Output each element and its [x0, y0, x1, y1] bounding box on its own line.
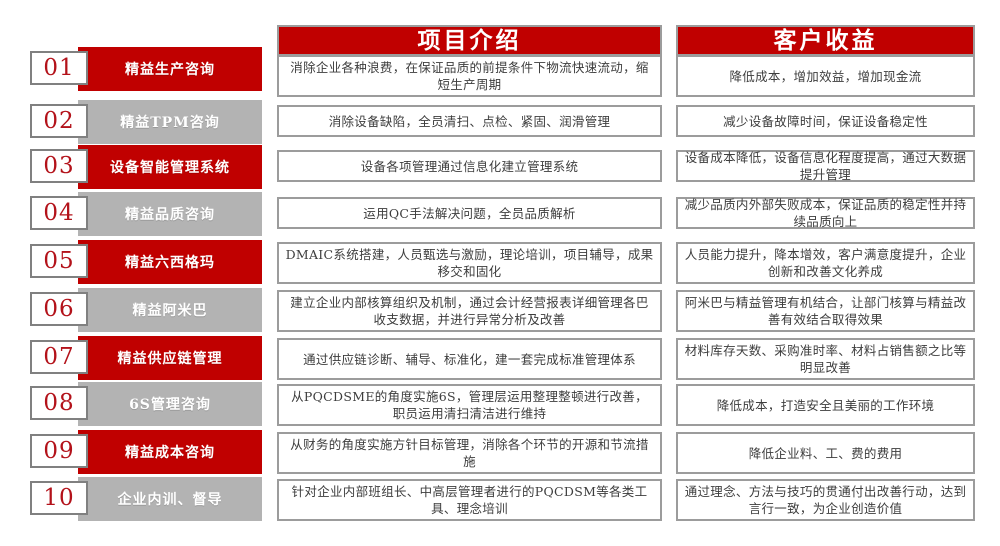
service-title-bar[interactable]: 精益供应链管理 [78, 336, 262, 380]
customer-benefit-cell: 降低成本，增加效益，增加现金流 [676, 55, 975, 97]
service-number-label: 04 [43, 202, 74, 225]
service-number-label: 08 [43, 392, 74, 415]
service-number-box: 10 [30, 481, 88, 515]
customer-benefit-text: 人员能力提升，降本增效，客户满意度提升，企业创新和改善文化养成 [684, 246, 967, 280]
service-title-label: 精益成本咨询 [125, 442, 215, 462]
customer-benefit-cell: 降低成本，打造安全且美丽的工作环境 [676, 384, 975, 426]
service-number-box: 05 [30, 244, 88, 278]
project-introduction-cell: 从财务的角度实施方针目标管理，消除各个环节的开源和节流措施 [277, 432, 662, 474]
service-row-07[interactable]: 精益供应链管理07 [30, 336, 262, 380]
customer-benefit-cell: 减少品质内外部失败成本，保证品质的稳定性并持续品质向上 [676, 197, 975, 229]
service-title-label: 精益六西格玛 [125, 252, 215, 272]
project-introduction-text: 通过供应链诊断、辅导、标准化，建一套完成标准管理体系 [285, 351, 654, 368]
customer-benefit-text: 降低成本，增加效益，增加现金流 [684, 68, 967, 85]
service-row-06[interactable]: 精益阿米巴06 [30, 288, 262, 332]
project-introduction-text: 从PQCDSME的角度实施6S，管理层运用整理整顿进行改善，职员运用清扫清洁进行… [285, 388, 654, 422]
service-number-box: 06 [30, 292, 88, 326]
service-row-02[interactable]: 精益TPM咨询02 [30, 100, 262, 144]
service-number-box: 02 [30, 104, 88, 138]
service-number-label: 01 [43, 57, 74, 80]
service-number-label: 10 [43, 487, 74, 510]
service-title-bar[interactable]: 精益六西格玛 [78, 240, 262, 284]
service-title-bar[interactable]: 精益生产咨询 [78, 47, 262, 91]
service-number-box: 09 [30, 434, 88, 468]
service-row-04[interactable]: 精益品质咨询04 [30, 192, 262, 236]
service-number-box: 03 [30, 149, 88, 183]
customer-benefit-text: 材料库存天数、采购准时率、材料占销售额之比等明显改善 [684, 342, 967, 376]
project-introduction-cell: 运用QC手法解决问题，全员品质解析 [277, 197, 662, 229]
service-title-bar[interactable]: 精益阿米巴 [78, 288, 262, 332]
service-row-05[interactable]: 精益六西格玛05 [30, 240, 262, 284]
column-header-project-introduction: 项目介绍 [277, 25, 662, 56]
service-number-box: 07 [30, 340, 88, 374]
project-introduction-text: 运用QC手法解决问题，全员品质解析 [285, 205, 654, 222]
customer-benefit-cell: 降低企业料、工、费的费用 [676, 432, 975, 474]
column-header-customer-benefit-label: 客户收益 [774, 29, 878, 52]
project-introduction-cell: 建立企业内部核算组织及机制，通过会计经营报表详细管理各巴收支数据，并进行异常分析… [277, 290, 662, 332]
column-header-project-introduction-label: 项目介绍 [418, 29, 522, 52]
service-title-label: 精益阿米巴 [133, 300, 208, 320]
service-matrix-board: 项目介绍 客户收益 精益生产咨询01消除企业各种浪费，在保证品质的前提条件下物流… [0, 0, 1000, 546]
customer-benefit-text: 降低企业料、工、费的费用 [684, 445, 967, 462]
service-title-bar[interactable]: 精益品质咨询 [78, 192, 262, 236]
service-number-box: 01 [30, 51, 88, 85]
service-row-01[interactable]: 精益生产咨询01 [30, 47, 262, 91]
service-title-label: 精益生产咨询 [125, 59, 215, 79]
project-introduction-cell: 设备各项管理通过信息化建立管理系统 [277, 150, 662, 182]
project-introduction-cell: 消除设备缺陷，全员清扫、点检、紧固、润滑管理 [277, 105, 662, 137]
project-introduction-text: 消除企业各种浪费，在保证品质的前提条件下物流快速流动，缩短生产周期 [285, 59, 654, 93]
project-introduction-text: 设备各项管理通过信息化建立管理系统 [285, 158, 654, 175]
project-introduction-text: 从财务的角度实施方针目标管理，消除各个环节的开源和节流措施 [285, 436, 654, 470]
service-number-label: 06 [43, 298, 74, 321]
service-title-bar[interactable]: 精益成本咨询 [78, 430, 262, 474]
customer-benefit-cell: 减少设备故障时间，保证设备稳定性 [676, 105, 975, 137]
project-introduction-text: 建立企业内部核算组织及机制，通过会计经营报表详细管理各巴收支数据，并进行异常分析… [285, 294, 654, 328]
service-number-box: 04 [30, 196, 88, 230]
customer-benefit-text: 阿米巴与精益管理有机结合，让部门核算与精益改善有效结合取得效果 [684, 294, 967, 328]
project-introduction-cell: DMAIC系统搭建，人员甄选与激励，理论培训，项目辅导，成果移交和固化 [277, 242, 662, 284]
project-introduction-text: 消除设备缺陷，全员清扫、点检、紧固、润滑管理 [285, 113, 654, 130]
service-title-label: 企业内训、督导 [118, 489, 223, 509]
column-header-customer-benefit: 客户收益 [676, 25, 975, 56]
service-number-label: 03 [43, 155, 74, 178]
customer-benefit-text: 减少设备故障时间，保证设备稳定性 [684, 113, 967, 130]
service-title-label: 精益供应链管理 [118, 348, 223, 368]
service-row-10[interactable]: 企业内训、督导10 [30, 477, 262, 521]
customer-benefit-text: 设备成本降低，设备信息化程度提高，通过大数据提升管理 [684, 149, 967, 183]
service-number-box: 08 [30, 386, 88, 420]
service-title-label: 6S管理咨询 [129, 394, 211, 414]
customer-benefit-text: 通过理念、方法与技巧的贯通付出改善行动，达到言行一致，为企业创造价值 [684, 483, 967, 517]
service-number-label: 07 [43, 346, 74, 369]
service-number-label: 02 [43, 110, 74, 133]
service-title-label: 设备智能管理系统 [110, 157, 230, 177]
service-row-03[interactable]: 设备智能管理系统03 [30, 145, 262, 189]
customer-benefit-text: 减少品质内外部失败成本，保证品质的稳定性并持续品质向上 [684, 196, 967, 230]
customer-benefit-cell: 阿米巴与精益管理有机结合，让部门核算与精益改善有效结合取得效果 [676, 290, 975, 332]
service-row-08[interactable]: 6S管理咨询08 [30, 382, 262, 426]
customer-benefit-cell: 人员能力提升，降本增效，客户满意度提升，企业创新和改善文化养成 [676, 242, 975, 284]
service-title-bar[interactable]: 精益TPM咨询 [78, 100, 262, 144]
project-introduction-cell: 消除企业各种浪费，在保证品质的前提条件下物流快速流动，缩短生产周期 [277, 55, 662, 97]
project-introduction-cell: 通过供应链诊断、辅导、标准化，建一套完成标准管理体系 [277, 338, 662, 380]
project-introduction-cell: 针对企业内部班组长、中高层管理者进行的PQCDSM等各类工具、理念培训 [277, 479, 662, 521]
project-introduction-cell: 从PQCDSME的角度实施6S，管理层运用整理整顿进行改善，职员运用清扫清洁进行… [277, 384, 662, 426]
service-number-label: 05 [43, 250, 74, 273]
customer-benefit-cell: 通过理念、方法与技巧的贯通付出改善行动，达到言行一致，为企业创造价值 [676, 479, 975, 521]
service-title-label: 精益TPM咨询 [120, 112, 219, 132]
service-number-label: 09 [43, 440, 74, 463]
customer-benefit-text: 降低成本，打造安全且美丽的工作环境 [684, 397, 967, 414]
service-title-bar[interactable]: 设备智能管理系统 [78, 145, 262, 189]
service-title-bar[interactable]: 企业内训、督导 [78, 477, 262, 521]
project-introduction-text: 针对企业内部班组长、中高层管理者进行的PQCDSM等各类工具、理念培训 [285, 483, 654, 517]
service-title-bar[interactable]: 6S管理咨询 [78, 382, 262, 426]
customer-benefit-cell: 设备成本降低，设备信息化程度提高，通过大数据提升管理 [676, 150, 975, 182]
service-title-label: 精益品质咨询 [125, 204, 215, 224]
service-row-09[interactable]: 精益成本咨询09 [30, 430, 262, 474]
project-introduction-text: DMAIC系统搭建，人员甄选与激励，理论培训，项目辅导，成果移交和固化 [285, 246, 654, 280]
customer-benefit-cell: 材料库存天数、采购准时率、材料占销售额之比等明显改善 [676, 338, 975, 380]
